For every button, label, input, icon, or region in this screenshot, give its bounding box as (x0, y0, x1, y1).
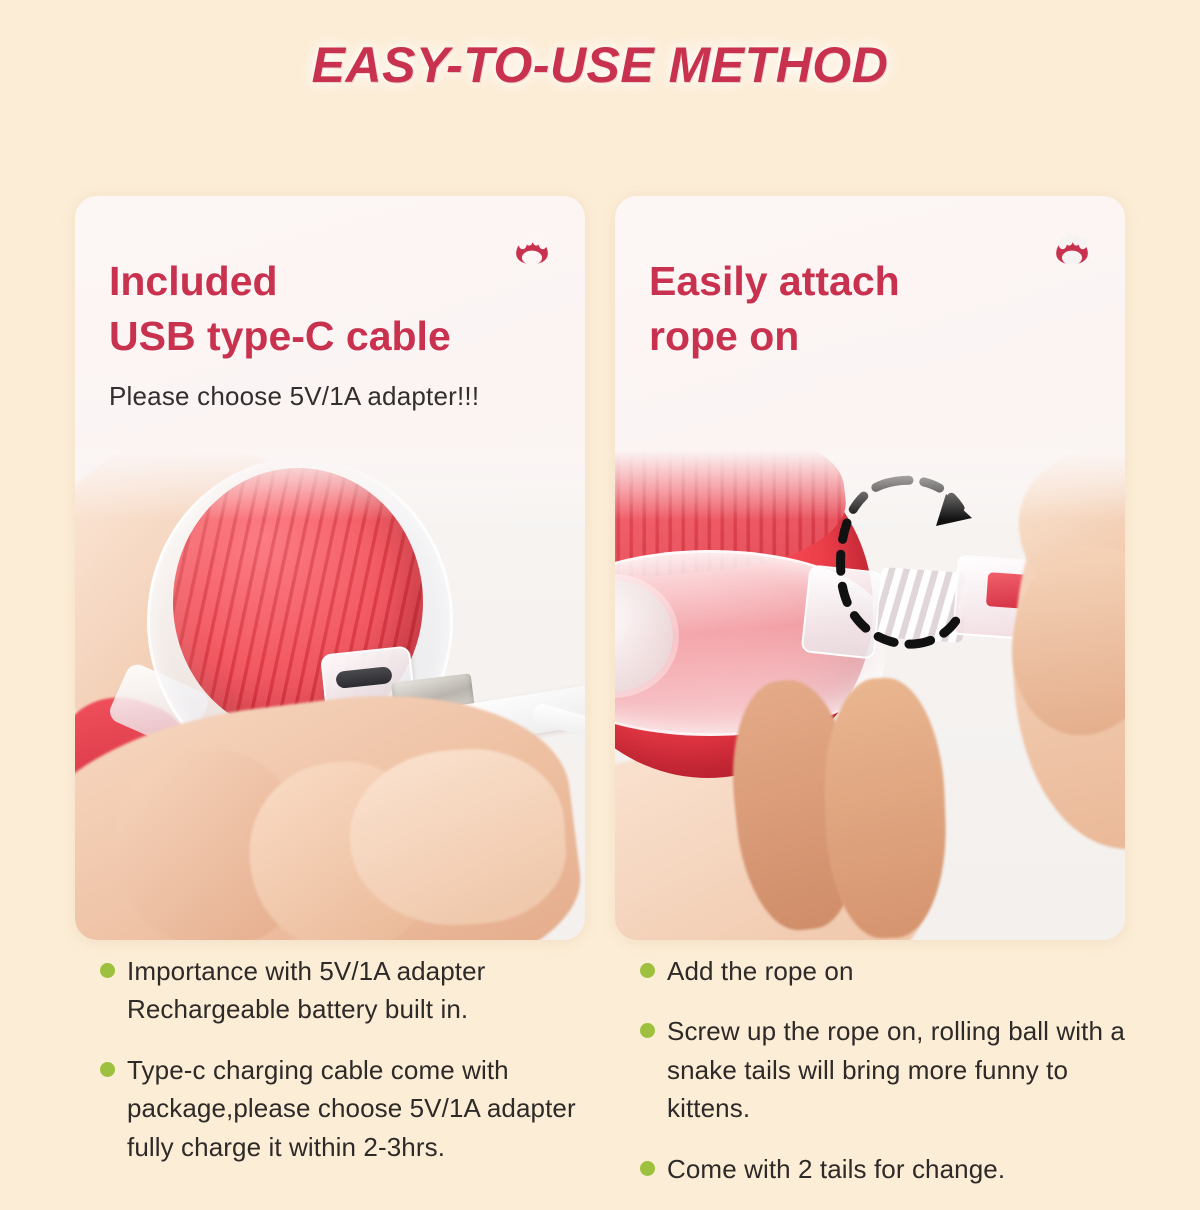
bullet-dot-icon (100, 1062, 115, 1077)
card-attach-rope: Easily attach rope on (615, 196, 1125, 940)
bullet-text: Screw up the rope on, rolling ball with … (667, 1012, 1130, 1127)
product-photo-attach-rope (615, 450, 1125, 940)
bullet-dot-icon (100, 963, 115, 978)
product-photo-usb-charging (75, 450, 585, 940)
bullet-dot-icon (640, 1023, 655, 1038)
list-item: Type-c charging cable come with package,… (100, 1051, 600, 1166)
bullet-list-right: Add the rope on Screw up the rope on, ro… (640, 952, 1130, 1210)
page-title: EASY-TO-USE METHOD (0, 36, 1200, 94)
card-header-rope: Easily attach rope on (649, 254, 900, 381)
list-item: Importance with 5V/1A adapter Rechargeab… (100, 952, 600, 1029)
list-item: Come with 2 tails for change. (640, 1150, 1130, 1188)
bullet-lists: Importance with 5V/1A adapter Rechargeab… (0, 952, 1200, 1200)
list-item: Add the rope on (640, 952, 1130, 990)
card-title-usb: Included USB type-C cable (109, 254, 479, 363)
cards-row: Included USB type-C cable Please choose … (0, 196, 1200, 940)
bullet-dot-icon (640, 963, 655, 978)
bullet-list-left: Importance with 5V/1A adapter Rechargeab… (100, 952, 600, 1188)
card-subtitle-usb: Please choose 5V/1A adapter!!! (109, 381, 479, 412)
card-header-usb: Included USB type-C cable Please choose … (109, 254, 479, 412)
bullet-text: Add the rope on (667, 952, 854, 990)
paw-print-icon (1049, 224, 1095, 270)
card-title-rope: Easily attach rope on (649, 254, 900, 363)
card-usb-cable: Included USB type-C cable Please choose … (75, 196, 585, 940)
paw-print-icon (509, 224, 555, 270)
photo-top-fade (75, 450, 585, 520)
bullet-dot-icon (640, 1161, 655, 1176)
list-item: Screw up the rope on, rolling ball with … (640, 1012, 1130, 1127)
bullet-text: Type-c charging cable come with package,… (127, 1051, 600, 1166)
photo-top-fade (615, 450, 1125, 520)
bullet-text: Importance with 5V/1A adapter Rechargeab… (127, 952, 600, 1029)
bullet-text: Come with 2 tails for change. (667, 1150, 1005, 1188)
